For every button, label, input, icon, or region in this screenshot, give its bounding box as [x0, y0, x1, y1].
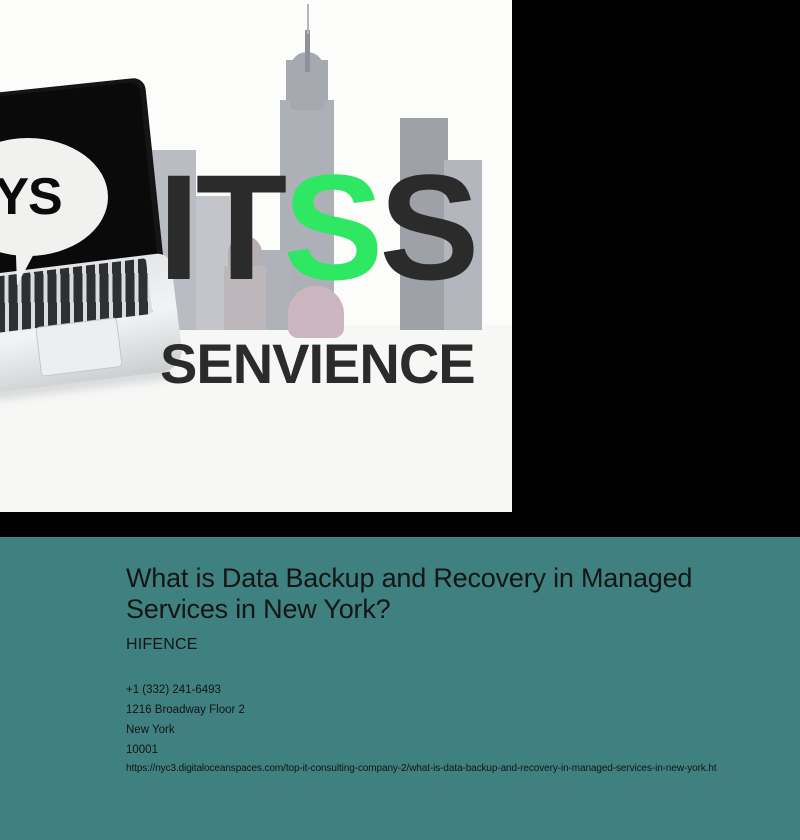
- source-url[interactable]: https://nyc3.digitaloceanspaces.com/top-…: [126, 763, 717, 774]
- hero-wordmark-line1-dark: IT: [158, 143, 283, 311]
- brand-name: HIFENCE: [126, 636, 800, 654]
- contact-city: New York: [126, 720, 800, 740]
- hero-wordmark-line1-green: S: [283, 143, 379, 311]
- content-inner: What is Data Backup and Recovery in Mana…: [126, 563, 800, 761]
- hero-wordmark-line1: ITSS: [158, 152, 475, 302]
- page-root: YS ITSS SENVIENCE What is Data Backup an…: [0, 0, 800, 840]
- empire-state-mast-icon: [305, 30, 310, 72]
- hero-bottom-black-band: [0, 512, 800, 537]
- hero-photo: YS ITSS SENVIENCE: [0, 0, 512, 512]
- contact-block: +1 (332) 241-6493 1216 Broadway Floor 2 …: [126, 680, 800, 761]
- laptop-trackpad-icon: [35, 317, 122, 377]
- hero-wordmark-line1-dark-tail: S: [379, 143, 475, 311]
- hero-banner: YS ITSS SENVIENCE: [0, 0, 800, 537]
- contact-phone: +1 (332) 241-6493: [126, 680, 800, 700]
- empire-state-antenna-icon: [307, 4, 309, 34]
- hero-right-black-panel: [512, 0, 800, 537]
- page-title: What is Data Backup and Recovery in Mana…: [126, 563, 701, 625]
- contact-street: 1216 Broadway Floor 2: [126, 700, 800, 720]
- hero-wordmark-line2: SENVIENCE: [160, 336, 475, 392]
- speech-bubble-text: YS: [0, 138, 108, 256]
- content-panel: What is Data Backup and Recovery in Mana…: [0, 537, 800, 840]
- contact-zip: 10001: [126, 740, 800, 760]
